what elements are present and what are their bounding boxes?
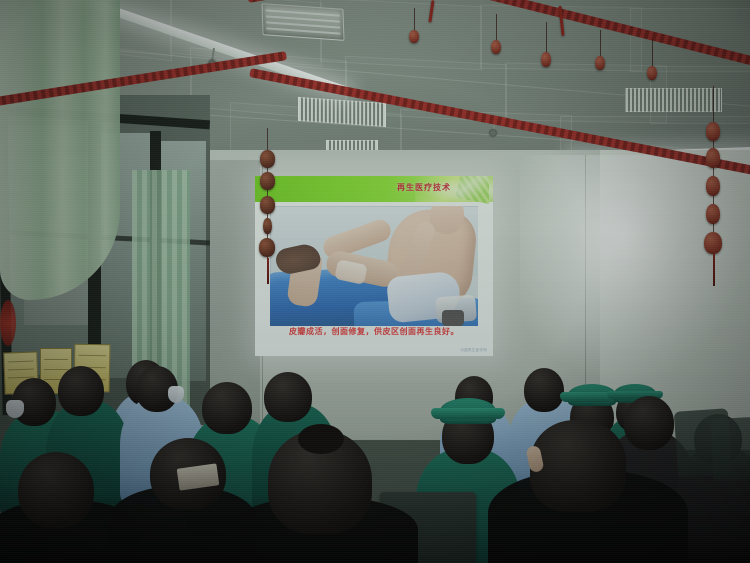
slide-watermark: 中国再生医学网 [460, 348, 487, 353]
air-vent-center [261, 3, 344, 41]
outside-red-sign [0, 300, 16, 346]
slide-clinical-photo [270, 206, 478, 326]
projection-screen: 再生医疗技术 皮瓣成活，创面修复，供皮区创面再生良好。 中国再生医学网 [255, 176, 493, 356]
sprinkler-head-2 [490, 130, 496, 136]
window-curtain-left [0, 0, 120, 300]
air-vent-right [625, 88, 722, 112]
slide-title: 再生医疗技术 [397, 182, 451, 193]
conference-room-photo: 再生医疗技术 皮瓣成活，创面修复，供皮区创面再生良好。 中国再生医学网 [0, 0, 750, 563]
slide-caption: 皮瓣成活，创面修复，供皮区创面再生良好。 [255, 326, 493, 337]
nurse-cap-icon [440, 398, 496, 424]
chair-empty-right-2 [710, 417, 750, 481]
